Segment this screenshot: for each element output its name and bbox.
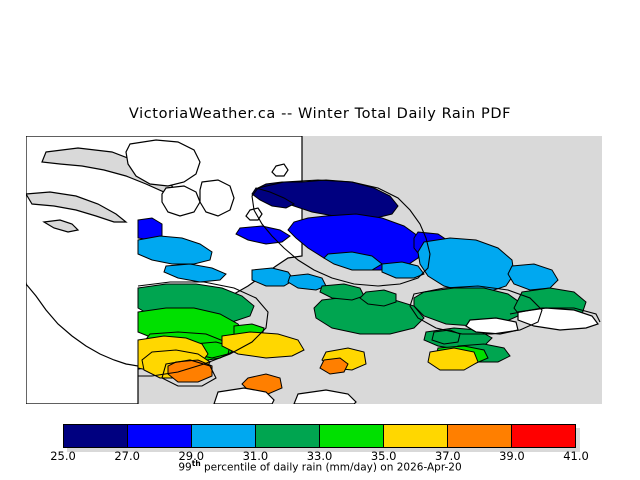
colorbar-bands bbox=[63, 424, 576, 448]
colorbar-caption: 99th percentile of daily rain (mm/day) o… bbox=[0, 459, 640, 474]
colorbar-band-orange bbox=[448, 425, 512, 447]
caption-prefix: 99 bbox=[178, 462, 191, 474]
colorbar-band-navy bbox=[64, 425, 128, 447]
caption-suffix: percentile of daily rain (mm/day) on 202… bbox=[201, 462, 462, 474]
page-title: VictoriaWeather.ca -- Winter Total Daily… bbox=[0, 106, 640, 122]
colorbar-band-blue bbox=[128, 425, 192, 447]
island-north-white-c bbox=[200, 180, 234, 216]
colorbar-band-light-blue bbox=[192, 425, 256, 447]
colorbar-band-yellow bbox=[384, 425, 448, 447]
island-north-white-b bbox=[162, 186, 200, 216]
colorbar-band-bright-green bbox=[320, 425, 384, 447]
map-panel bbox=[26, 136, 602, 404]
map-canvas bbox=[26, 136, 602, 404]
colorbar bbox=[63, 424, 576, 448]
contour-yellow-islet-b bbox=[428, 348, 478, 370]
colorbar-band-sea-green bbox=[256, 425, 320, 447]
caption-superscript: th bbox=[192, 459, 201, 468]
colorbar-band-red bbox=[512, 425, 575, 447]
